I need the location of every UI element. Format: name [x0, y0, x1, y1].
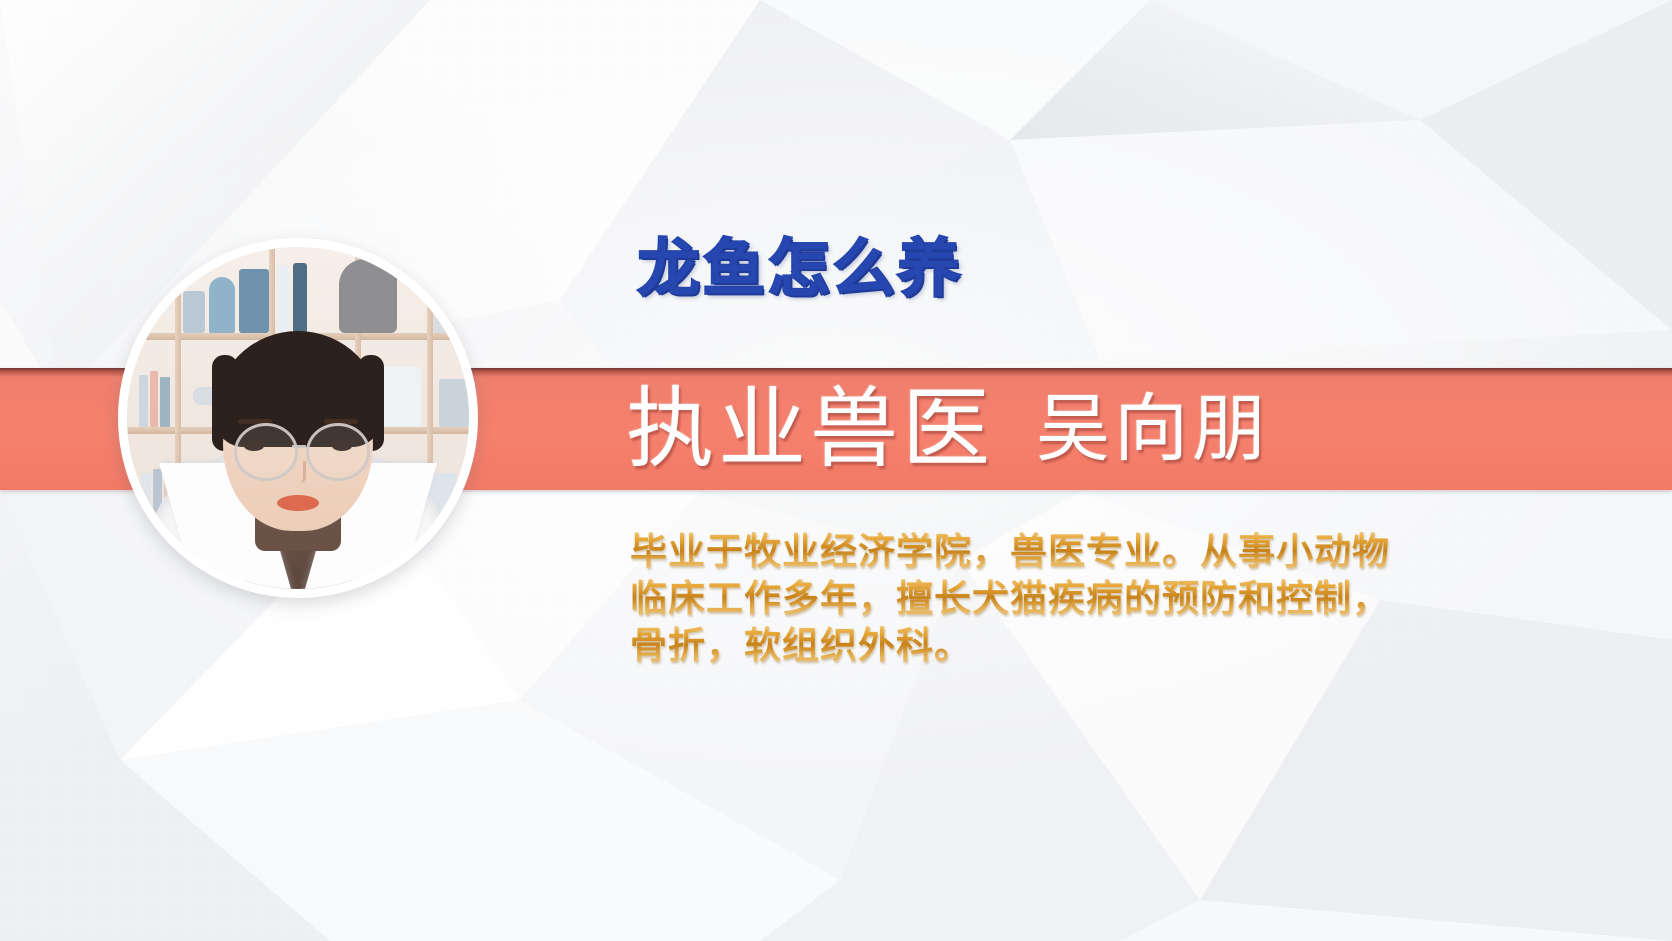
doctor-bio: 毕业于牧业经济学院，兽医专业。从事小动物 临床工作多年，擅长犬猫疾病的预防和控制…	[630, 528, 1470, 669]
shelf-object	[239, 269, 269, 333]
shelf-object	[439, 379, 469, 427]
lips	[277, 495, 319, 511]
book	[139, 375, 148, 427]
shelf-object	[433, 283, 467, 333]
book	[150, 371, 158, 427]
shelf-object	[277, 265, 289, 333]
book	[141, 473, 151, 519]
doctor-name: 吴向朋	[1036, 392, 1270, 466]
role-banner-content: 执业兽医 吴向朋	[626, 368, 1270, 490]
bio-line-1: 毕业于牧业经济学院，兽医专业。从事小动物	[630, 528, 1470, 575]
glasses-bridge	[292, 445, 306, 448]
shelf-object	[293, 263, 307, 333]
shelf-sculpture	[339, 259, 397, 333]
video-cover-slide: 龙鱼怎么养 执业兽医 吴向朋 毕业于牧业经济学院，兽医专业。从事小动物 临床工作…	[0, 0, 1672, 941]
role-label: 执业兽医	[626, 385, 994, 473]
glasses-left-lens	[234, 423, 298, 481]
avatar	[118, 238, 478, 598]
nose	[293, 461, 306, 483]
shelf-object	[209, 277, 235, 333]
avatar-photo	[127, 247, 469, 589]
shelf-object	[183, 291, 205, 333]
page-title: 龙鱼怎么养	[638, 238, 963, 300]
bio-line-2: 临床工作多年，擅长犬猫疾病的预防和控制，	[630, 575, 1470, 622]
book	[160, 377, 170, 427]
bio-line-3: 骨折，软组织外科。	[630, 622, 1470, 669]
glasses-right-lens	[306, 423, 370, 481]
